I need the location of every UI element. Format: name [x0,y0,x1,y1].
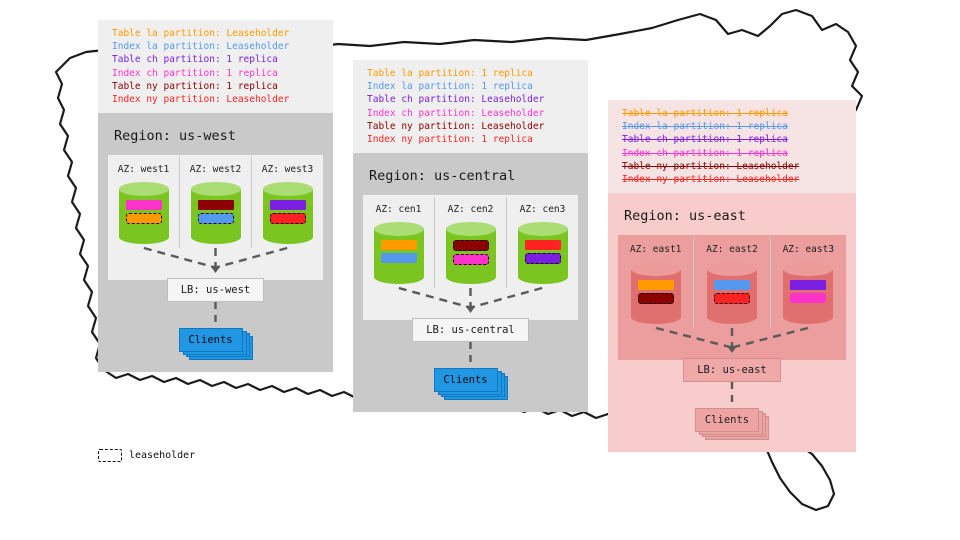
partition-bar-index-ch-partition-leaseholder [453,254,489,265]
partition-note-line: Index ny partition: Leaseholder [622,173,846,186]
database-node-cylinder[interactable] [707,262,757,324]
database-node-cylinder[interactable] [783,262,833,324]
partition-notes-us-central: Table la partition: 1 replicaIndex la pa… [353,60,588,153]
clients-stack-us-east[interactable]: Clients [695,408,769,440]
leaseholder-legend: leaseholder [98,449,195,462]
region-title-us-west: Region: us-west [114,128,323,144]
partition-bar-table-la-partition-leaseholder [126,213,162,224]
partition-bar-index-ch-partition [126,200,162,210]
region-body-us-west: Region: us-westAZ: west1AZ: west2AZ: wes… [98,113,333,372]
az-cell-east2[interactable]: AZ: east2 [693,237,769,328]
lb-to-clients-stem [108,302,323,328]
connector-lines-us-east [618,326,846,360]
region-body-us-east: Region: us-eastAZ: east1AZ: east2AZ: eas… [608,193,856,452]
region-block-us-central: Table la partition: 1 replicaIndex la pa… [353,60,588,412]
partition-bar-index-la-partition-leaseholder [198,213,234,224]
database-node-cylinder[interactable] [374,222,424,284]
az-cell-west1[interactable]: AZ: west1 [108,157,179,248]
az-to-lb-connectors [108,246,323,280]
partition-bar-table-ny-partition [198,200,234,210]
az-strip: AZ: cen1AZ: cen2AZ: cen3 [363,197,578,288]
cylinder-top [263,182,313,196]
stem-line-us-central [363,342,578,368]
partition-bar-index-la-partition [381,253,417,263]
partition-note-line: Index ch partition: Leaseholder [367,107,578,120]
partition-note-line: Table ch partition: 1 replica [112,53,323,66]
partition-note-line: Index ny partition: Leaseholder [112,93,323,106]
az-label: AZ: west3 [252,164,323,175]
az-to-lb-connectors [363,286,578,320]
az-label: AZ: east3 [771,244,846,255]
partition-note-line: Index ch partition: 1 replica [112,67,323,80]
az-label: AZ: east1 [618,244,693,255]
az-label: AZ: cen1 [363,204,434,215]
az-container-us-west: AZ: west1AZ: west2AZ: west3 [108,155,323,280]
az-cell-east3[interactable]: AZ: east3 [770,237,846,328]
partition-bar-table-ch-partition [270,200,306,210]
lb-row: LB: us-west [108,278,323,302]
connector-lines-us-central [363,286,578,320]
partition-bars [638,280,674,307]
partition-note-line: Index ny partition: 1 replica [367,133,578,146]
clients-row: Clients [618,408,846,440]
partition-note-line: Table ny partition: Leaseholder [622,160,846,173]
partition-bar-table-la-partition [638,280,674,290]
partition-note-line: Table la partition: 1 replica [367,67,578,80]
database-node-cylinder[interactable] [119,182,169,244]
region-title-us-central: Region: us-central [369,168,578,184]
partition-bar-index-ny-partition-leaseholder [270,213,306,224]
az-label: AZ: west1 [108,164,179,175]
partition-notes-us-west: Table la partition: LeaseholderIndex la … [98,20,333,113]
az-cell-west3[interactable]: AZ: west3 [251,157,323,248]
partition-bar-table-la-partition [381,240,417,250]
cylinder-top [119,182,169,196]
region-body-us-central: Region: us-centralAZ: cen1AZ: cen2AZ: ce… [353,153,588,412]
lb-row: LB: us-central [363,318,578,342]
partition-note-line: Table la partition: Leaseholder [112,27,323,40]
partition-note-line: Table la partition: 1 replica [622,107,846,120]
az-container-us-east: AZ: east1AZ: east2AZ: east3 [618,235,846,360]
stem-line-us-west [108,302,323,328]
az-label: AZ: west2 [180,164,251,175]
clients-stack-us-west[interactable]: Clients [179,328,253,360]
partition-bar-index-ny-partition [525,240,561,250]
partition-bars [714,280,750,307]
partition-bar-index-ch-partition [790,293,826,303]
partition-note-line: Index la partition: 1 replica [622,120,846,133]
dashed-rect-swatch [98,449,122,462]
database-node-cylinder[interactable] [631,262,681,324]
cylinder-top [518,222,568,236]
clients-stack-us-central[interactable]: Clients [434,368,508,400]
database-node-cylinder[interactable] [191,182,241,244]
partition-bar-index-ny-partition-leaseholder [714,293,750,304]
az-container-us-central: AZ: cen1AZ: cen2AZ: cen3 [363,195,578,320]
region-title-us-east: Region: us-east [624,208,846,224]
clients-card[interactable]: Clients [179,328,243,352]
partition-bar-table-ch-partition [790,280,826,290]
partition-note-line: Index la partition: 1 replica [367,80,578,93]
az-cell-cen1[interactable]: AZ: cen1 [363,197,434,288]
stem-line-us-east [618,382,846,408]
connector-lines-us-west [108,246,323,280]
partition-bars [790,280,826,306]
region-block-us-east: Table la partition: 1 replicaIndex la pa… [608,100,856,452]
az-cell-cen3[interactable]: AZ: cen3 [506,197,578,288]
cylinder-top [374,222,424,236]
clients-row: Clients [363,368,578,400]
clients-card[interactable]: Clients [434,368,498,392]
lb-to-clients-stem [363,342,578,368]
partition-note-line: Table ny partition: 1 replica [112,80,323,93]
partition-note-line: Table ch partition: Leaseholder [367,93,578,106]
clients-card[interactable]: Clients [695,408,759,432]
load-balancer-us-central[interactable]: LB: us-central [412,318,529,342]
partition-bars [270,200,306,227]
database-node-cylinder[interactable] [446,222,496,284]
partition-note-line: Index ch partition: 1 replica [622,147,846,160]
az-cell-west2[interactable]: AZ: west2 [179,157,251,248]
clients-row: Clients [108,328,323,360]
az-strip: AZ: east1AZ: east2AZ: east3 [618,237,846,328]
partition-bar-table-ch-partition-leaseholder [525,253,561,264]
partition-bars [381,240,417,266]
partition-bar-index-la-partition [714,280,750,290]
load-balancer-us-west[interactable]: LB: us-west [167,278,265,302]
partition-bar-table-ny-partition-leaseholder [638,293,674,304]
cylinder-top [446,222,496,236]
partition-notes-us-east: Table la partition: 1 replicaIndex la pa… [608,100,856,193]
cylinder-top [191,182,241,196]
partition-bars [126,200,162,227]
az-cell-cen2[interactable]: AZ: cen2 [434,197,506,288]
az-label: AZ: cen3 [507,204,578,215]
az-to-lb-connectors [618,326,846,360]
load-balancer-us-east[interactable]: LB: us-east [683,358,781,382]
partition-bar-table-ny-partition-leaseholder [453,240,489,251]
region-block-us-west: Table la partition: LeaseholderIndex la … [98,20,333,372]
partition-bars [453,240,489,268]
az-label: AZ: cen2 [435,204,506,215]
legend-label: leaseholder [129,450,195,461]
partition-note-line: Index la partition: Leaseholder [112,40,323,53]
az-label: AZ: east2 [694,244,769,255]
lb-row: LB: us-east [618,358,846,382]
partition-note-line: Table ch partition: 1 replica [622,133,846,146]
az-strip: AZ: west1AZ: west2AZ: west3 [108,157,323,248]
partition-bars [525,240,561,267]
database-node-cylinder[interactable] [263,182,313,244]
lb-to-clients-stem [618,382,846,408]
partition-note-line: Table ny partition: Leaseholder [367,120,578,133]
partition-bars [198,200,234,227]
az-cell-east1[interactable]: AZ: east1 [618,237,693,328]
database-node-cylinder[interactable] [518,222,568,284]
